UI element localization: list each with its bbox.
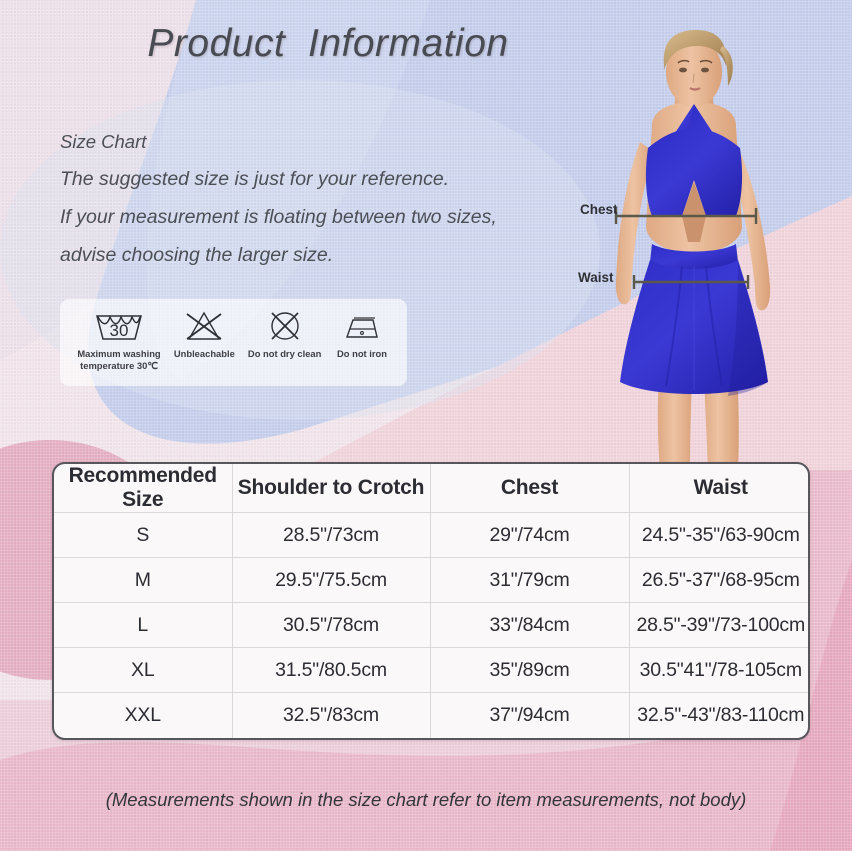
cell-shoulder: 28.5"/73cm	[232, 513, 430, 558]
cell-chest: 37"/94cm	[430, 693, 629, 738]
table-row: M 29.5"/75.5cm 31"/79cm 26.5"-37"/68-95c…	[54, 558, 810, 603]
table-row: L 30.5"/78cm 33"/84cm 28.5"-39"/73-100cm	[54, 603, 810, 648]
table-row: XL 31.5"/80.5cm 35"/89cm 30.5"41"/78-105…	[54, 648, 810, 693]
cell-chest: 33"/84cm	[430, 603, 629, 648]
table-row: S 28.5"/73cm 29"/74cm 24.5"-35"/63-90cm	[54, 513, 810, 558]
cell-shoulder: 29.5"/75.5cm	[232, 558, 430, 603]
cell-chest: 29"/74cm	[430, 513, 629, 558]
product-information-page: Product Information Size Chart The sugge…	[0, 0, 852, 851]
cell-waist: 32.5"-43"/83-110cm	[629, 693, 810, 738]
size-chart-table: Recommended Size Shoulder to Crotch Ches…	[54, 464, 810, 738]
cell-shoulder: 30.5"/78cm	[232, 603, 430, 648]
intro-line-2: If your measurement is floating between …	[60, 198, 580, 236]
care-label-wash: Maximum washing temperature 30℃	[77, 348, 160, 372]
cell-shoulder: 32.5"/83cm	[232, 693, 430, 738]
care-instructions-panel: 30 Maximum washing temperature 30℃ Unble…	[60, 299, 407, 386]
cell-size: XL	[54, 648, 232, 693]
wash-temp-value: 30	[110, 321, 129, 340]
intro-line-1: The suggested size is just for your refe…	[60, 160, 580, 198]
model-photo	[586, 30, 852, 470]
waist-callout: Waist	[578, 270, 614, 285]
cell-waist: 24.5"-35"/63-90cm	[629, 513, 810, 558]
care-item-iron: Do not iron	[328, 308, 396, 360]
wash-tub-30-icon: 30	[93, 308, 145, 344]
measurement-lines	[586, 30, 852, 470]
column-header-waist: Waist	[629, 464, 810, 513]
table-header-row: Recommended Size Shoulder to Crotch Ches…	[54, 464, 810, 513]
table-row: XXL 32.5"/83cm 37"/94cm 32.5"-43"/83-110…	[54, 693, 810, 738]
care-item-dry-clean: Do not dry clean	[242, 308, 328, 360]
chest-callout: Chest	[580, 202, 618, 217]
cell-size: XXL	[54, 693, 232, 738]
cell-waist: 26.5"-37"/68-95cm	[629, 558, 810, 603]
cell-shoulder: 31.5"/80.5cm	[232, 648, 430, 693]
care-label-bleach: Unbleachable	[174, 348, 235, 360]
care-item-wash: 30 Maximum washing temperature 30℃	[71, 308, 167, 372]
cell-chest: 35"/89cm	[430, 648, 629, 693]
intro-line-3: advise choosing the larger size.	[60, 236, 580, 274]
no-bleach-icon	[184, 308, 224, 344]
cell-size: S	[54, 513, 232, 558]
column-header-chest: Chest	[430, 464, 629, 513]
measurement-footnote: (Measurements shown in the size chart re…	[0, 789, 852, 811]
no-dry-clean-icon	[266, 308, 304, 344]
cell-chest: 31"/79cm	[430, 558, 629, 603]
size-chart-table-wrapper: Recommended Size Shoulder to Crotch Ches…	[52, 462, 810, 740]
cell-size: L	[54, 603, 232, 648]
cell-waist: 30.5"41"/78-105cm	[629, 648, 810, 693]
cell-waist: 28.5"-39"/73-100cm	[629, 603, 810, 648]
no-iron-icon	[341, 308, 383, 344]
care-item-bleach: Unbleachable	[167, 308, 241, 360]
column-header-size: Recommended Size	[54, 464, 232, 513]
cell-size: M	[54, 558, 232, 603]
column-header-shoulder: Shoulder to Crotch	[232, 464, 430, 513]
size-chart-intro: Size Chart The suggested size is just fo…	[60, 124, 580, 274]
care-label-dry-clean: Do not dry clean	[248, 348, 321, 360]
care-label-iron: Do not iron	[337, 348, 387, 360]
size-chart-heading: Size Chart	[60, 124, 580, 160]
